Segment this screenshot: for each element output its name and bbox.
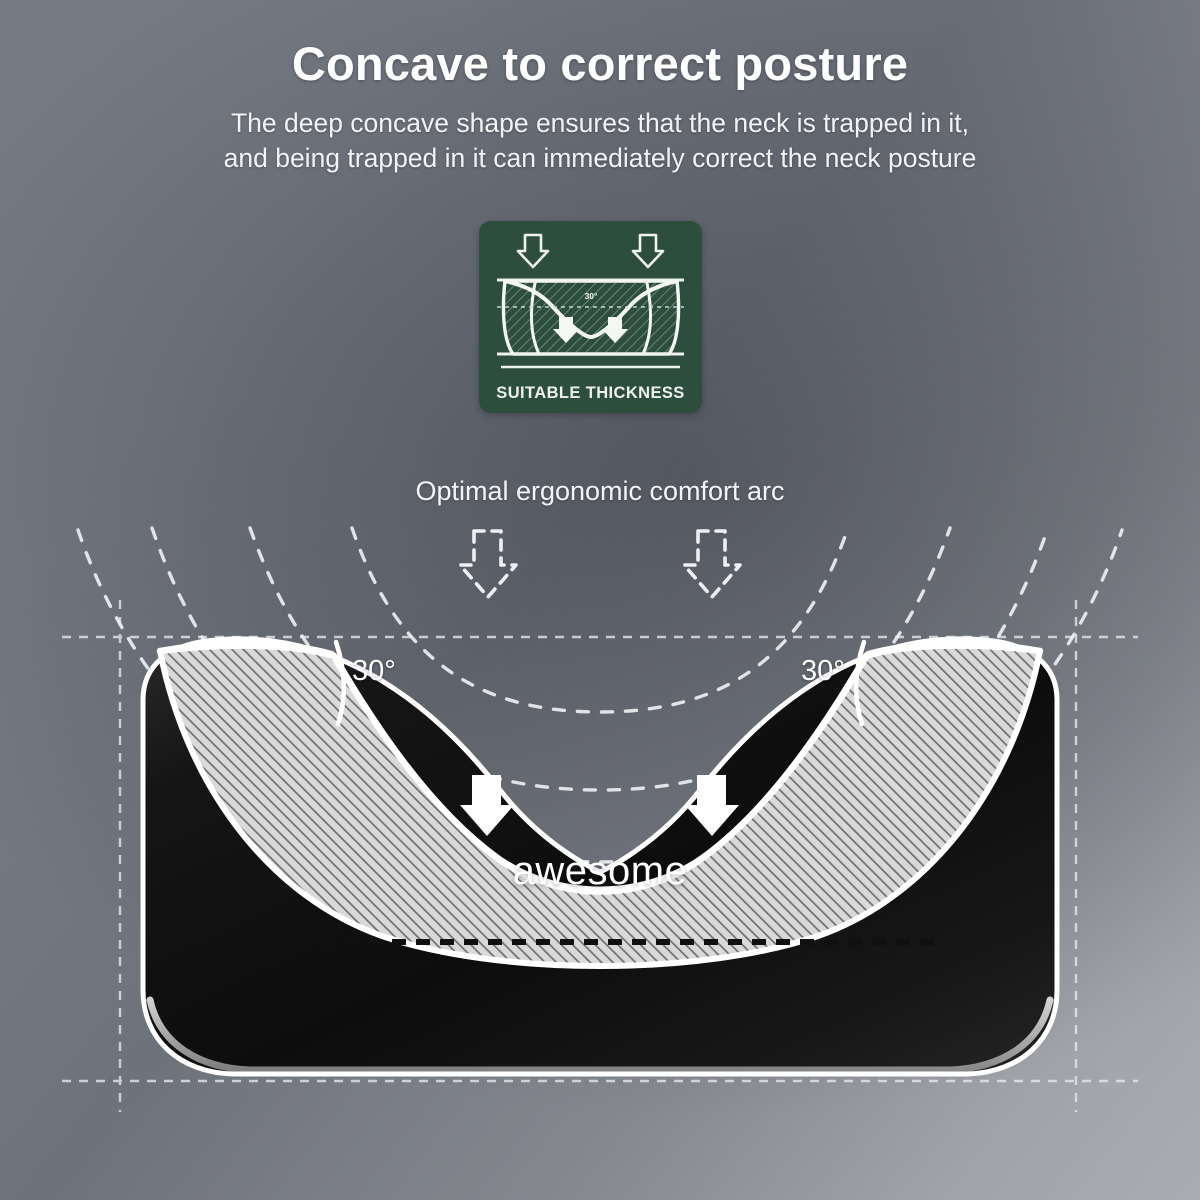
angle-label-left: 30° [352,655,396,688]
infographic-canvas: Concave to correct posture The deep conc… [0,0,1200,1200]
angle-label-right: 30° [801,655,845,688]
arc-arrow-left-icon [460,531,516,597]
comfort-arc-1 [352,528,848,712]
arc-arrow-right-icon [684,531,740,597]
brand-text: awesome [0,849,1200,894]
pillow-diagram [0,0,1200,1200]
